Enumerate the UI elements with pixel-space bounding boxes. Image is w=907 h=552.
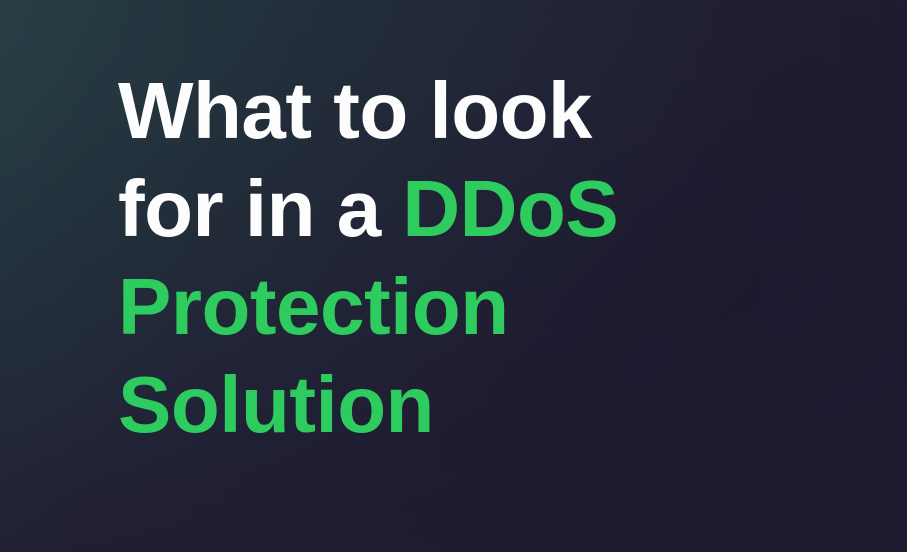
headline-line-2-accent-text: DDoS xyxy=(402,164,618,253)
headline-line-1: What to look xyxy=(118,62,818,160)
headline-line-3: Protection xyxy=(118,258,818,356)
headline-line-3-text: Protection xyxy=(118,262,509,351)
headline-line-2-white-text: for in a xyxy=(118,164,402,253)
headline-line-2: for in a DDoS xyxy=(118,160,818,258)
headline-line-4: Solution xyxy=(118,356,818,454)
title-slide: What to look for in a DDoS Protection So… xyxy=(0,0,907,552)
headline-line-1-text: What to look xyxy=(118,66,592,155)
slide-headline: What to look for in a DDoS Protection So… xyxy=(118,62,818,454)
headline-line-4-text: Solution xyxy=(118,360,434,449)
